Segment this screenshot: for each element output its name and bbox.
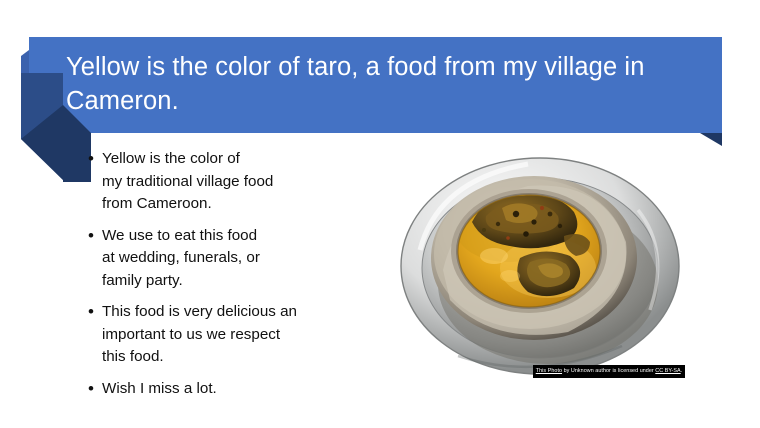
- food-photo: [398, 150, 688, 381]
- bullet-icon: •: [88, 301, 102, 324]
- list-item-text: Wish I miss a lot.: [102, 378, 350, 401]
- bullet-icon: •: [88, 148, 102, 171]
- list-item-text: This food is very delicious an important…: [102, 301, 350, 369]
- slide: Yellow is the color of taro, a food from…: [0, 0, 760, 428]
- food-photo-graphic: [398, 150, 688, 381]
- bullet-icon: •: [88, 378, 102, 401]
- photo-credit-suffix: .: [681, 368, 683, 374]
- photo-credit-license-link[interactable]: CC BY-SA: [655, 368, 680, 374]
- list-item-text: We use to eat this food at wedding, fune…: [102, 225, 350, 293]
- list-item: • We use to eat this food at wedding, fu…: [88, 225, 350, 293]
- list-item-text: Yellow is the color of my traditional vi…: [102, 148, 350, 216]
- list-item: • This food is very delicious an importa…: [88, 301, 350, 369]
- ribbon-right-notch: [700, 133, 722, 146]
- bullet-icon: •: [88, 225, 102, 248]
- bullet-list: • Yellow is the color of my traditional …: [88, 148, 350, 409]
- photo-credit[interactable]: This Photo by Unknown author is licensed…: [533, 365, 685, 378]
- list-item: • Yellow is the color of my traditional …: [88, 148, 350, 216]
- list-item: • Wish I miss a lot.: [88, 378, 350, 401]
- page-title: Yellow is the color of taro, a food from…: [66, 50, 706, 118]
- photo-credit-source-link[interactable]: This Photo: [536, 368, 562, 374]
- photo-credit-middle-text: by Unknown author is licensed under: [562, 368, 655, 374]
